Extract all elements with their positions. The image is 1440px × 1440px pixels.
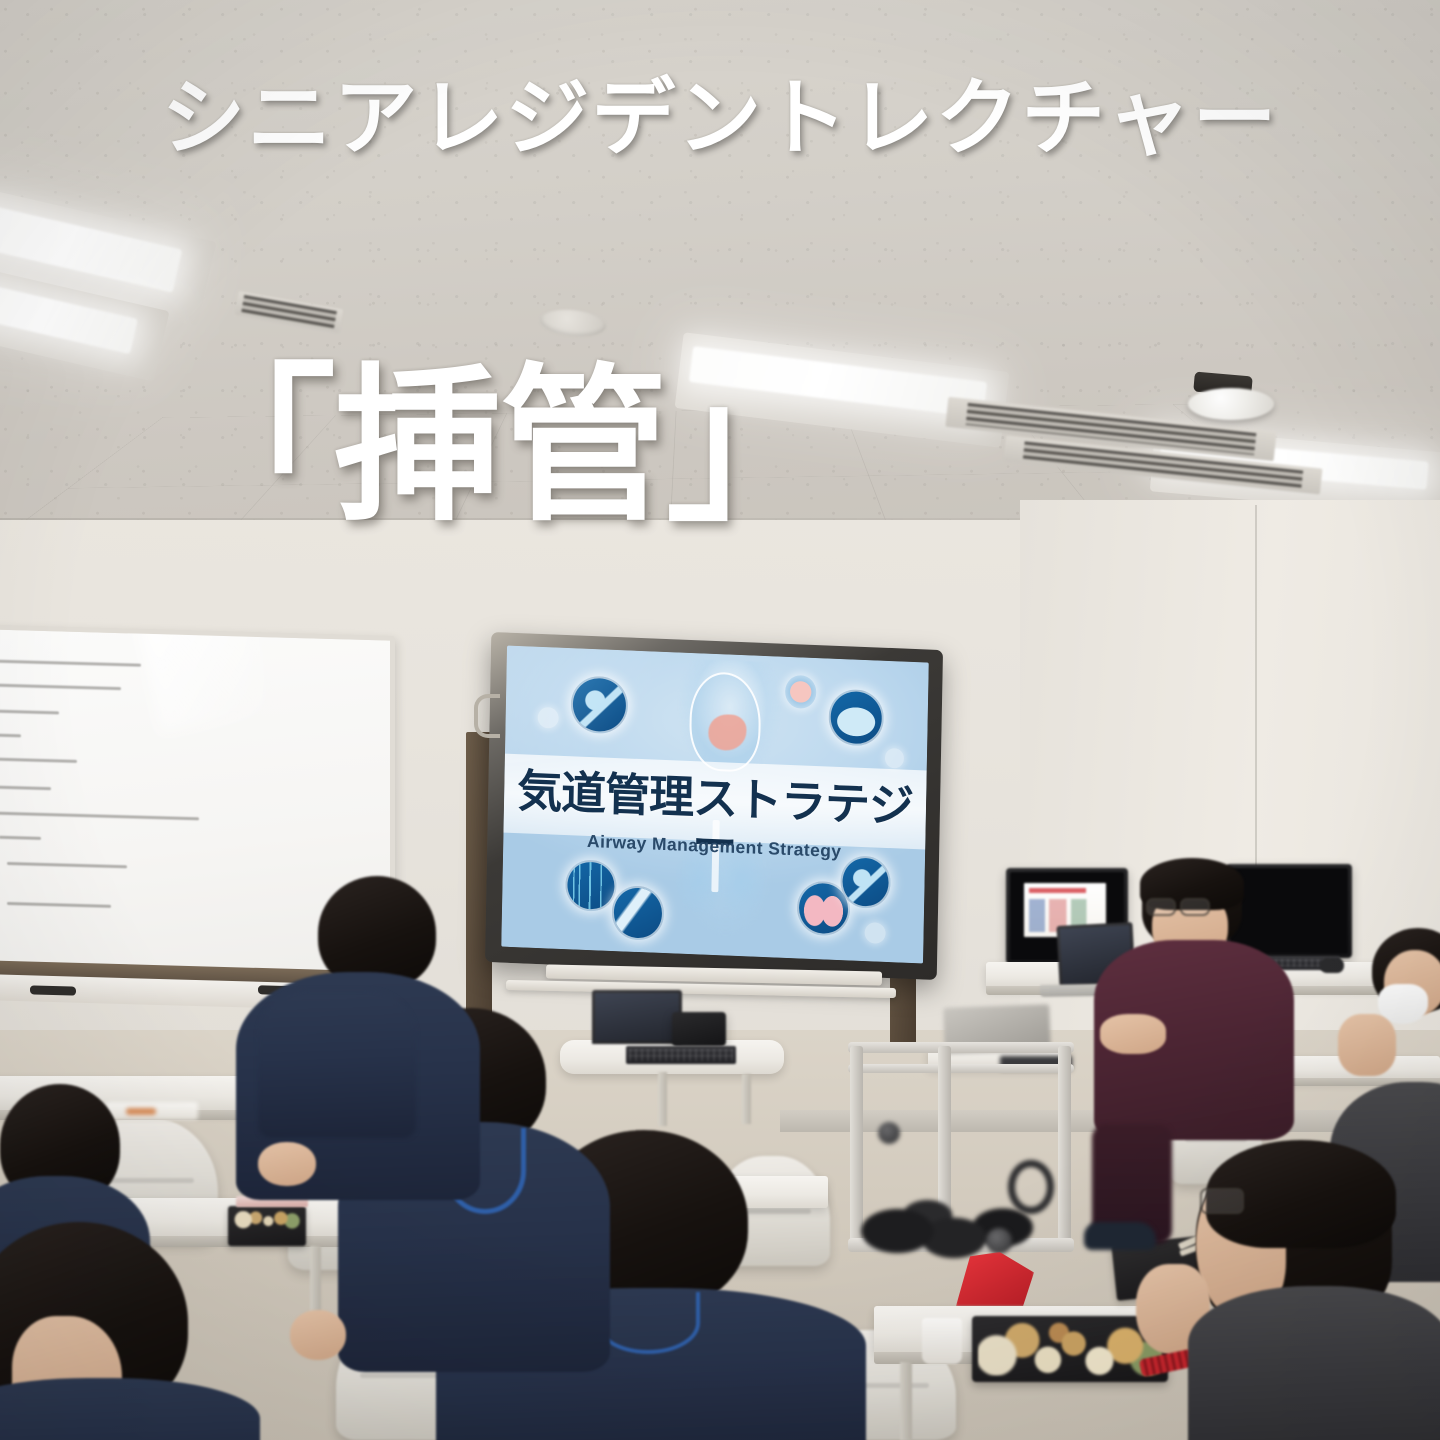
cart-caster [986,1228,1012,1254]
whiteboard-writing [0,733,21,737]
right-front-glasses [1200,1188,1244,1214]
display-side-handle [474,694,500,738]
mouse[interactable] [1320,958,1344,973]
whiteboard-writing [7,902,111,908]
small-dot-icon [864,922,885,944]
whiteboard-writing [0,709,59,714]
oxygen-alert-icon [784,675,816,709]
wall-display: 気道管理ストラテジー Airway Management Strategy [485,632,943,980]
presenter-shoe [1084,1222,1156,1250]
whiteboard-marker[interactable] [30,985,76,995]
top-title-text: シニアレジデントレクチャー [0,74,1440,162]
tray-food [978,1322,1162,1376]
alert-dot-icon [537,707,558,729]
podium-keyboard[interactable] [626,1046,736,1064]
headset [1008,1160,1054,1214]
monitor-screen [1230,868,1348,954]
whiteboard-writing [7,862,127,868]
paper-cup [922,1318,962,1364]
ceiling-speaker [1188,388,1274,420]
whiteboard-writing [0,757,77,763]
presenter-glasses-right [1180,898,1210,916]
center-front-lanyard [596,1292,700,1354]
presenter-glasses-left [1146,898,1176,916]
masked-hands [1338,1014,1396,1076]
bento-food [234,1211,300,1229]
video-laryngoscope-icon [571,675,629,734]
whiteboard-glare [135,624,272,733]
center-back-hand [290,1310,346,1360]
display-bezel: 気道管理ストラテジー Airway Management Strategy [485,632,943,980]
whiteboard-writing [0,811,199,820]
photo-canvas: 気道管理ストラテジー Airway Management Strategy [0,0,1440,1440]
small-dot-icon [885,748,904,768]
right-front-body [1188,1286,1440,1440]
standing-back-body [258,990,416,1138]
food-item [126,1108,156,1115]
podium-laptop-lid [592,990,682,1044]
whiteboard-writing [0,836,41,840]
podium-leg [658,1072,667,1126]
podium-device [672,1012,726,1046]
bento-box-front [228,1206,306,1246]
whiteboard-writing [0,683,121,690]
main-title-text: 「挿管」 [168,362,832,530]
display-screen: 気道管理ストラテジー Airway Management Strategy [501,646,929,964]
presenter-hand [1100,1014,1166,1054]
whiteboard-writing [0,785,51,790]
podium-leg [742,1074,751,1124]
cart-post-right [1058,1046,1071,1250]
cart-top-rail [848,1042,1074,1053]
bvm-mask-icon [828,689,884,747]
desk-leg [900,1362,912,1440]
pulse-oximeter-icon [611,885,665,941]
cart-mid-rail [848,1064,1074,1073]
whiteboard-writing [0,659,141,666]
ecg-monitor-icon [565,859,617,912]
mid-left-hand [258,1142,316,1186]
chair-caster [878,1122,900,1144]
